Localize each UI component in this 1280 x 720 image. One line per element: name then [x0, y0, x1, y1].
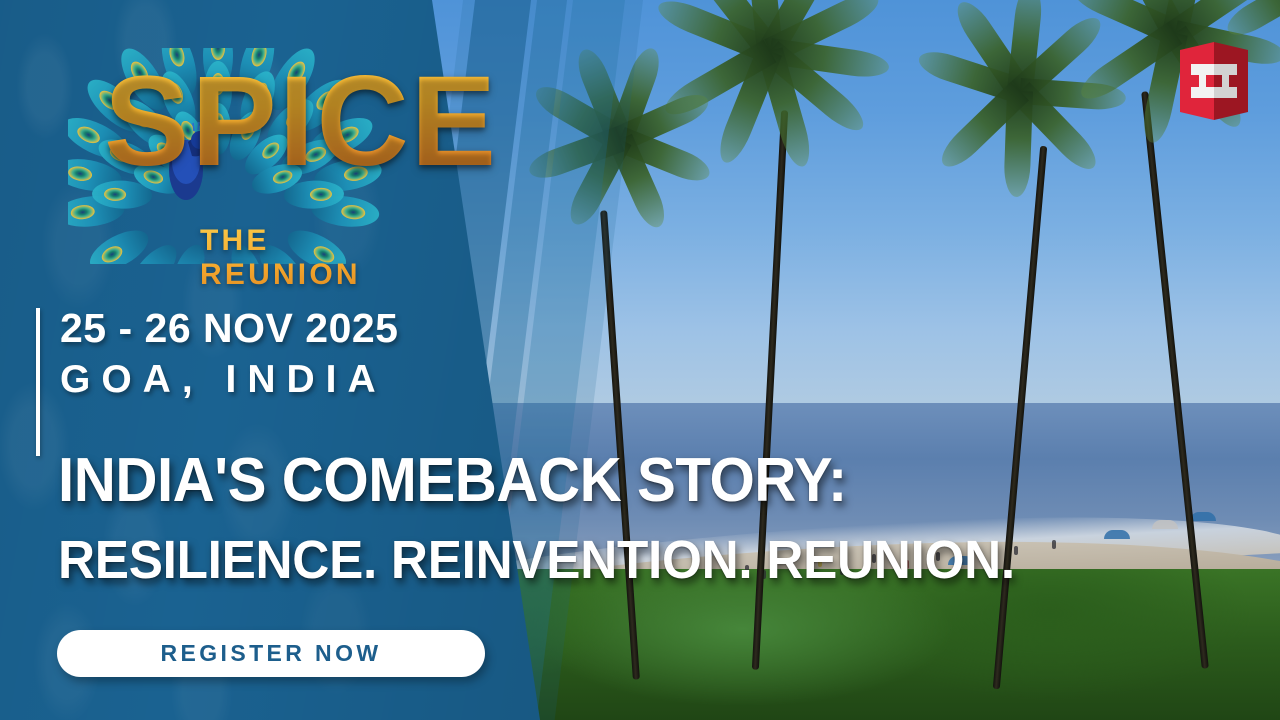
event-location: GOA, INDIA: [60, 358, 387, 402]
the-reunion-text: THE REUNION: [200, 224, 410, 292]
spice-wordmark: SPICE THE REUNION: [58, 34, 410, 274]
event-promo-banner: SPICE THE REUNION 25 - 26 NOV 2025 GOA, …: [0, 0, 1280, 720]
spice-text: SPICE: [104, 58, 498, 186]
register-now-label: REGISTER NOW: [161, 640, 382, 667]
register-now-button[interactable]: REGISTER NOW: [57, 630, 485, 677]
page-subtitle: RESILIENCE. REINVENTION. REUNION.: [58, 533, 1015, 587]
red-cube-i-logo[interactable]: [1176, 38, 1252, 124]
accent-bar: [36, 308, 40, 456]
page-title: INDIA'S COMEBACK STORY:: [58, 450, 847, 512]
event-date: 25 - 26 NOV 2025: [60, 305, 398, 352]
spice-logo[interactable]: SPICE THE REUNION: [58, 34, 410, 274]
